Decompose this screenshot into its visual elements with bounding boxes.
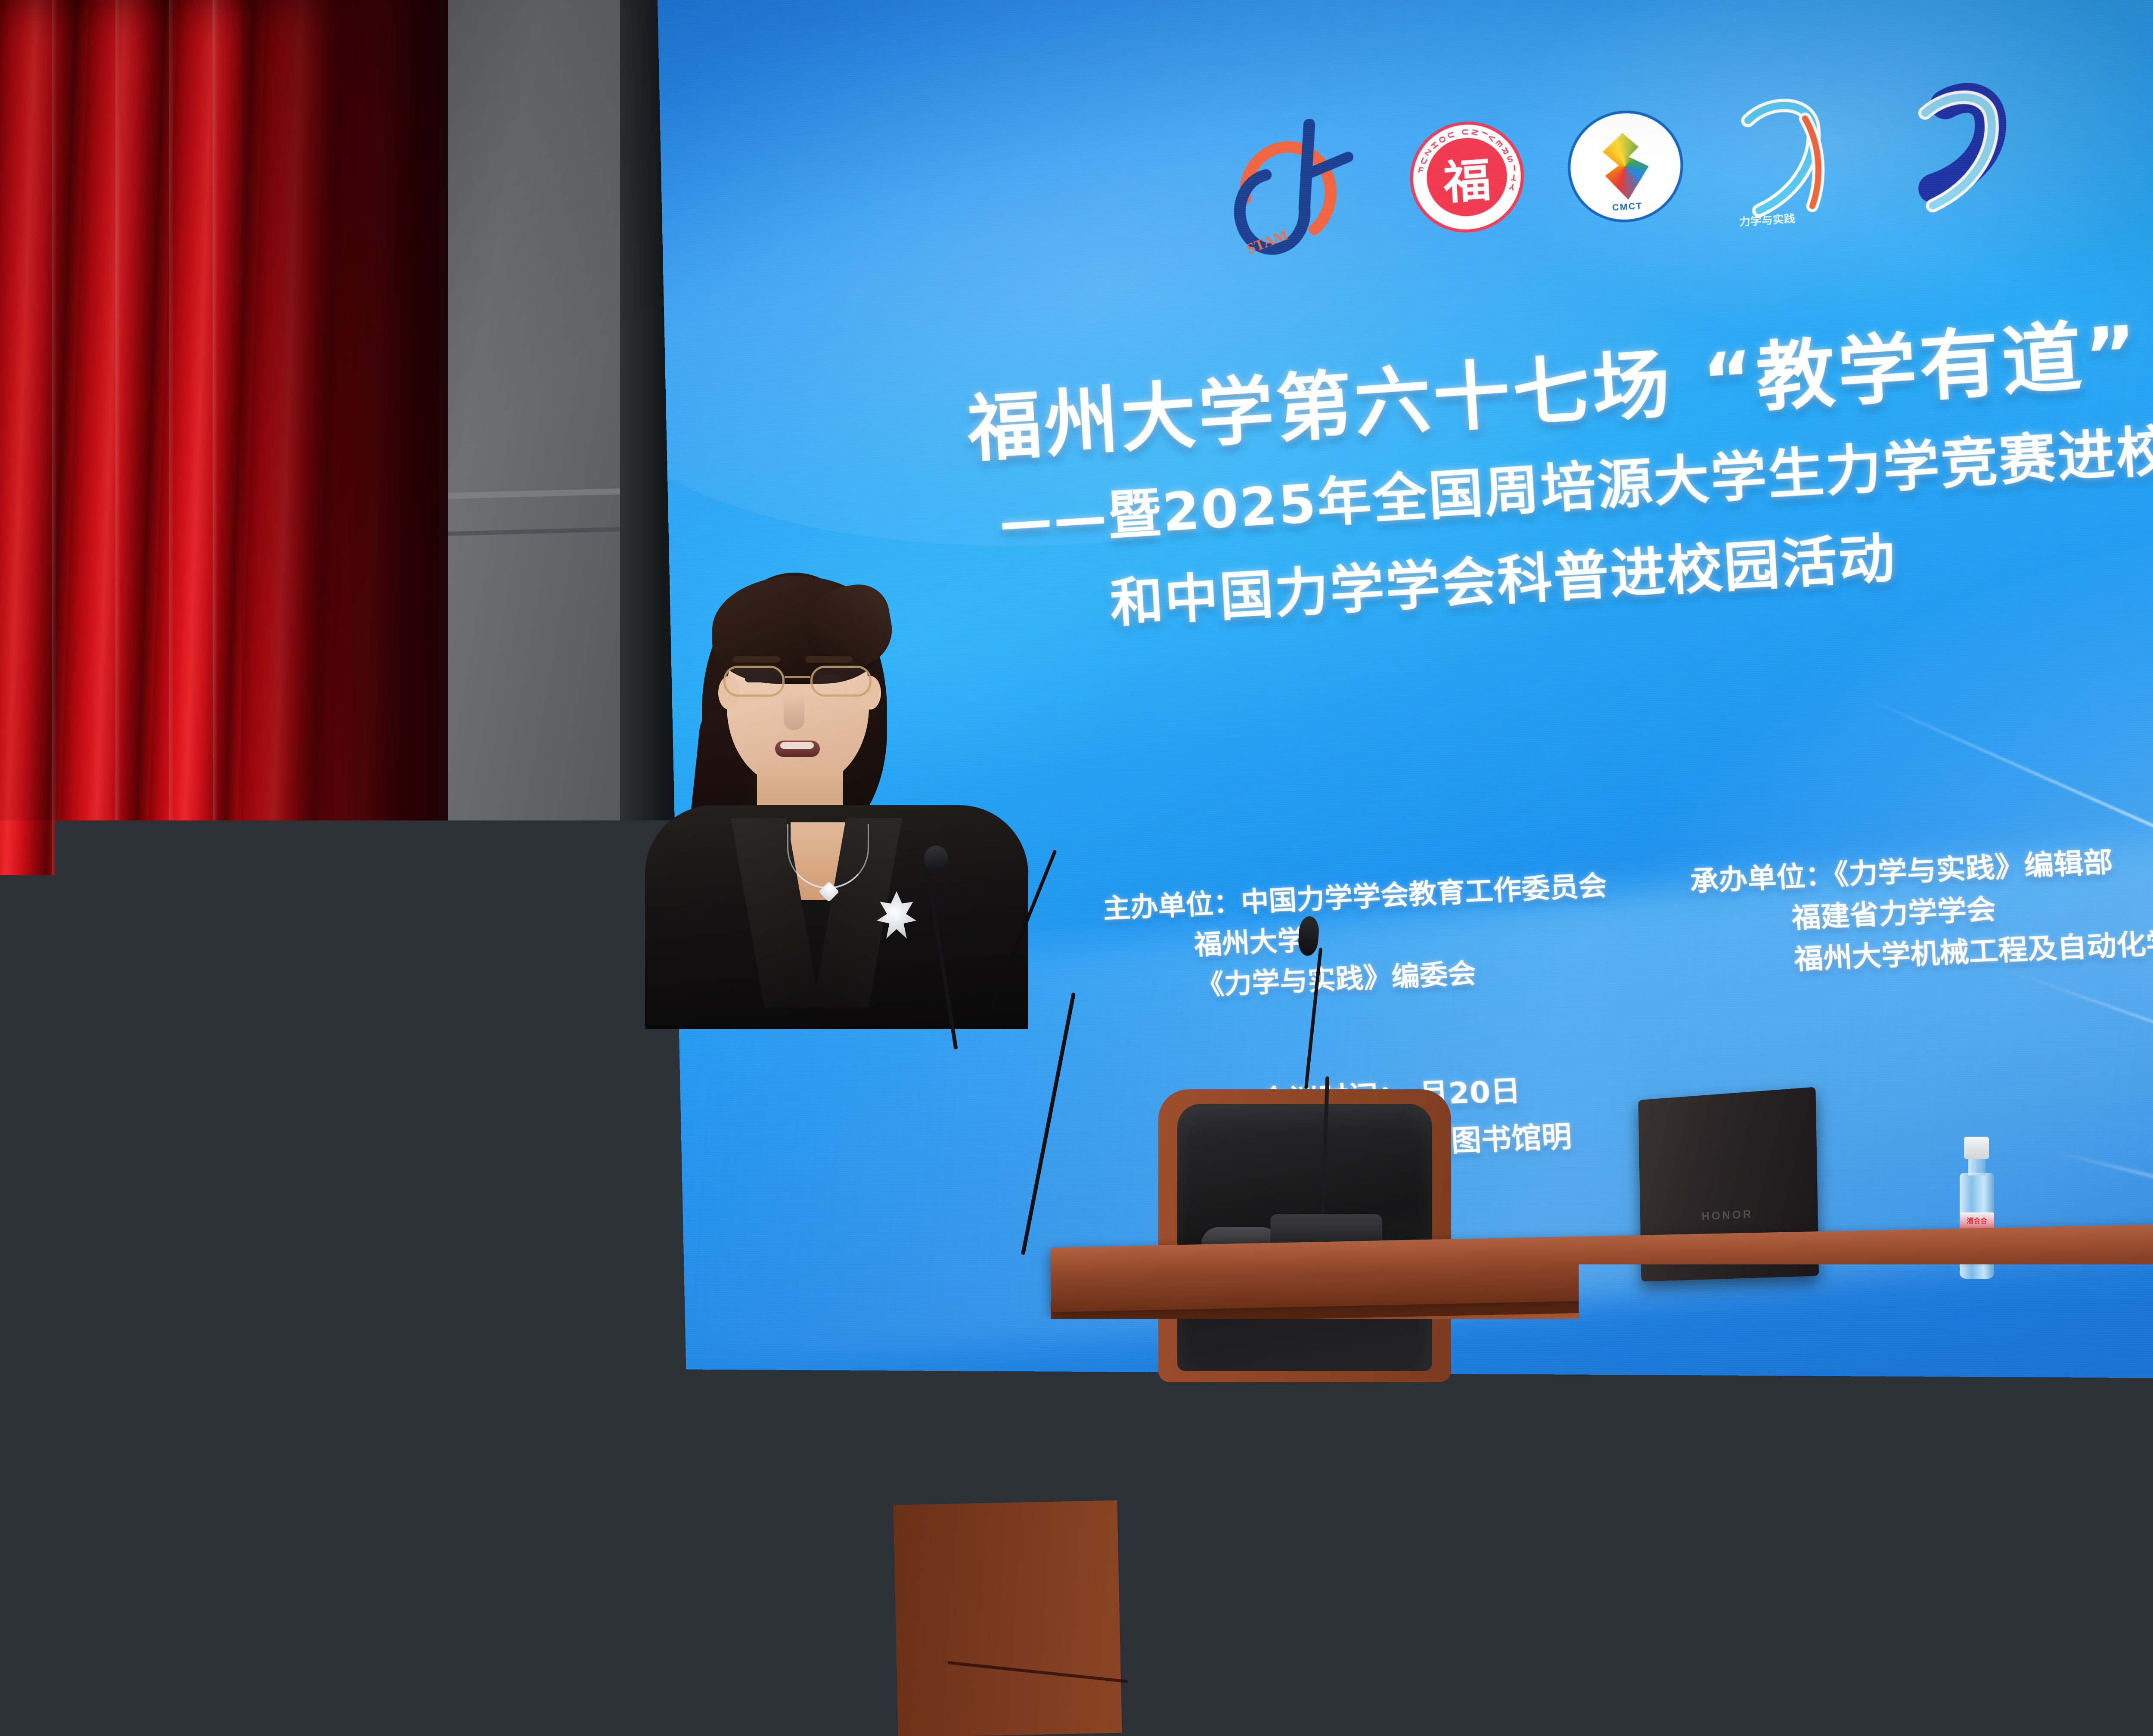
bottle-cap [1964, 1137, 1989, 1159]
eyeglass-lens-right [810, 666, 872, 697]
presenter-brow-left [733, 656, 780, 663]
laptop-brand-label: HONOR [1701, 1207, 1753, 1223]
bottle-label-text: 浦合合 [1960, 1215, 1994, 1225]
presenter-brow-right [805, 656, 853, 663]
fuzhou-university-emblem: F U Z H O U U N I V E R S I T Y 福 1958 [667, 1279, 934, 1546]
podium-microphone-head [924, 846, 948, 872]
emblem-year: 1958 [672, 1505, 930, 1527]
host-organizer-column: 主办单位：中国力学学会教育工作委员会 福州大学 《力学与实践》编委会 [1102, 865, 1613, 1009]
conference-desk [1051, 1236, 2153, 1736]
bottle-neck [1968, 1156, 1985, 1175]
desk-shadow [1049, 1603, 2153, 1736]
co-host-organizer-column: 承办单位：《力学与实践》编辑部 福建省力学学会 福州大学机械工程及自动化学院 [1689, 837, 2153, 984]
presenter-nose [784, 693, 804, 730]
curtain-fold [52, 0, 57, 1736]
curtain-fold [115, 0, 121, 1736]
cmct-logo-label: CMCT [1573, 198, 1683, 216]
curtain-shadow-side [241, 0, 448, 1736]
eyeglass-bridge [785, 676, 810, 678]
curtain-fold [169, 0, 174, 1736]
cmct-logo: CMCT [1565, 107, 1686, 226]
eyeglass-lens-left [723, 666, 785, 697]
fuzhou-university-seal-logo: F U Z H O U U N I V E R S I T Y 福 [1407, 118, 1526, 236]
podium-top-face [507, 943, 1060, 980]
podium-top [495, 939, 1072, 1051]
conference-photo-scene: STAM F U Z H O U U N I V E R S I [0, 0, 2153, 1736]
curtain-fold [213, 0, 218, 1736]
seal-ring-text: F U Z H O U U N I V E R S I T Y [1411, 121, 1523, 232]
mechanics-and-practice-logo: 力学与实践 [1724, 84, 1857, 227]
cmct-swirl-icon [1591, 131, 1660, 202]
speaker-podium: F U Z H O U U N I V E R S I T Y 福 1958 [495, 939, 1072, 1736]
fujian-mechanics-society-logo [1896, 72, 2030, 216]
podium-neck [577, 1046, 990, 1210]
presenter-teeth [780, 742, 814, 749]
emblem-ring-text: F U Z H O U U N I V E R S I T Y [672, 1283, 930, 1541]
stam-logo: STAM [1224, 115, 1370, 261]
